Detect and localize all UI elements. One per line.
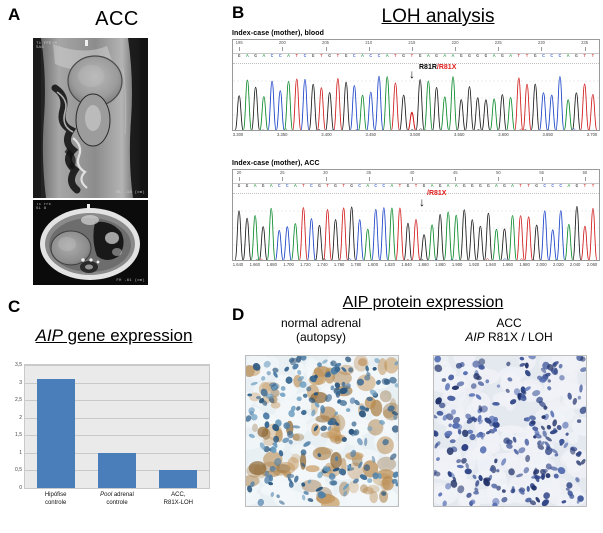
base-letter: T <box>517 55 520 60</box>
scale-tick <box>282 177 283 181</box>
base-letter: G <box>485 55 488 60</box>
axis-tick-label: 1.820 <box>384 262 394 267</box>
base-letter: T <box>591 55 594 60</box>
scale-number: 230 <box>538 40 545 45</box>
base-letter: G <box>476 55 479 60</box>
x-axis-label-line: Pool adrenal <box>100 492 134 500</box>
base-letter: A <box>366 185 369 190</box>
base-letter: G <box>435 55 438 60</box>
panel-c-letter: C <box>8 298 20 315</box>
axis-tick-label: 3.400 <box>321 132 331 137</box>
base-letter: G <box>463 185 466 190</box>
base-letter: G <box>318 185 321 190</box>
panel-d-title: AIP protein expression <box>268 294 578 312</box>
axis-tick-label: 1.880 <box>435 262 445 267</box>
x-axis-label-line: Hipófise <box>45 492 67 500</box>
base-letter: C <box>551 185 554 190</box>
base-letter: G <box>439 185 442 190</box>
y-axis-label: 0 <box>19 485 22 491</box>
axis-tick-label: 1.940 <box>486 262 496 267</box>
chromatogram-acc-peaks <box>233 194 599 261</box>
scale-tick <box>412 47 413 51</box>
base-letter: C <box>378 55 381 60</box>
scale-number: 30 <box>323 170 328 175</box>
base-letter: G <box>407 185 410 190</box>
base-letter: T <box>342 185 345 190</box>
scale-number: 225 <box>495 40 502 45</box>
axis-tick-label: 1.660 <box>250 262 260 267</box>
base-letter: A <box>361 55 364 60</box>
axis-tick-label: 3.650 <box>543 132 553 137</box>
chromatogram-blood-scale: 195200205210215220225230235 <box>233 40 599 54</box>
axis-tick-label: 1.980 <box>519 262 529 267</box>
base-letter: G <box>419 55 422 60</box>
panel-c: C AIP gene expression 00,511,522,533,5Hi… <box>0 292 228 533</box>
base-letter: C <box>559 55 562 60</box>
base-letter: A <box>254 185 257 190</box>
base-letter: T <box>394 55 397 60</box>
base-letter: C <box>358 185 361 190</box>
scale-tick <box>455 47 456 51</box>
base-letter: A <box>509 55 512 60</box>
base-letter: T <box>592 185 595 190</box>
panel-c-title-rest: gene expression <box>63 326 192 345</box>
scale-number: 55 <box>539 170 544 175</box>
base-letter: T <box>519 185 522 190</box>
chromatogram-blood-bases: GAGACCATCGTGTGCACCATGTGAGAAGGGGAGATTGCCC… <box>233 54 599 64</box>
mutation-label-blood-mutant: /R81X <box>437 64 456 71</box>
scale-number: 35 <box>366 170 371 175</box>
scale-tick <box>585 47 586 51</box>
y-axis-label: 1 <box>19 450 22 456</box>
base-letter: G <box>423 185 426 190</box>
base-letter: G <box>350 185 353 190</box>
chart-gridline <box>25 488 209 489</box>
scale-number: 25 <box>280 170 285 175</box>
scale-number: 20 <box>237 170 242 175</box>
histology-right-caption-rest: R81X / LOH <box>485 330 553 344</box>
chromatogram-blood: Index-case (mother), blood 1952002052102… <box>232 30 600 142</box>
mutation-arrow-acc: ↓ <box>419 196 425 208</box>
panel-b-letter: B <box>232 4 244 21</box>
base-letter: A <box>452 55 455 60</box>
base-letter: G <box>534 55 537 60</box>
base-letter: A <box>567 55 570 60</box>
axis-tick-label: 1.760 <box>334 262 344 267</box>
y-axis-label: 3,5 <box>15 362 22 368</box>
scale-number: 200 <box>279 40 286 45</box>
panel-c-title-gene: AIP <box>36 326 63 345</box>
base-letter: T <box>527 185 530 190</box>
scale-tick <box>239 177 240 181</box>
axis-tick-label: 1.680 <box>266 262 276 267</box>
axis-tick-label: 2.060 <box>587 262 597 267</box>
scale-tick <box>369 177 370 181</box>
mri-axial-overlay-top: T1 FFE SL 8 <box>36 203 52 211</box>
base-letter: A <box>443 55 446 60</box>
scale-tick <box>541 47 542 51</box>
scale-number: 220 <box>452 40 459 45</box>
axis-tick-label: 3.300 <box>233 132 243 137</box>
scale-tick <box>585 177 586 181</box>
mri-sagittal-image: T1 FFE/M SAG RL -18 (cm) <box>33 38 148 198</box>
scale-number: 205 <box>322 40 329 45</box>
x-axis-label-italic: Pool <box>100 492 112 498</box>
axis-tick-label: 3.700 <box>587 132 597 137</box>
base-letter: G <box>246 185 249 190</box>
base-letter: T <box>302 185 305 190</box>
base-letter: C <box>369 55 372 60</box>
base-letter: A <box>495 185 498 190</box>
mri-axial-overlay-bottom: FH -61 (cm) <box>116 279 145 283</box>
base-letter: G <box>471 185 474 190</box>
base-letter: C <box>382 185 385 190</box>
base-letter: T <box>410 55 413 60</box>
scale-number: 215 <box>408 40 415 45</box>
base-letter: C <box>310 185 313 190</box>
base-letter: G <box>238 185 241 190</box>
chromatogram-blood-axis: 3.3003.3503.4003.4503.5003.5503.6003.650… <box>232 132 600 142</box>
scale-tick <box>326 177 327 181</box>
scale-tick <box>542 177 543 181</box>
chart-gridline <box>25 365 209 366</box>
base-letter: A <box>493 55 496 60</box>
base-letter: T <box>295 55 298 60</box>
histology-right-caption-gene: AIP <box>465 330 484 344</box>
scale-tick <box>412 177 413 181</box>
x-axis-label-line: R81X-LOH <box>164 500 193 508</box>
histology-normal-adrenal-image <box>245 355 399 507</box>
histology-right-caption-line2: AIP R81X / LOH <box>433 330 585 344</box>
x-axis-label-line: controle <box>45 500 67 508</box>
base-letter: G <box>460 55 463 60</box>
scale-number: 195 <box>236 40 243 45</box>
scale-tick <box>326 47 327 51</box>
base-letter: T <box>320 55 323 60</box>
base-letter: T <box>399 185 402 190</box>
scale-tick <box>369 47 370 51</box>
base-letter: C <box>271 55 274 60</box>
histology-right-caption-line1: ACC <box>433 316 585 330</box>
scale-number: 60 <box>583 170 588 175</box>
axis-tick-label: 1.840 <box>401 262 411 267</box>
panel-a: A ACC <box>0 0 228 292</box>
axis-tick-label: 3.600 <box>498 132 508 137</box>
base-letter: G <box>328 55 331 60</box>
scale-tick <box>498 177 499 181</box>
base-letter: C <box>286 185 289 190</box>
axis-tick-label: 1.740 <box>317 262 327 267</box>
chart-bar <box>37 379 75 488</box>
mutation-label-acc: /R81X <box>427 190 446 197</box>
base-letter: G <box>238 55 241 60</box>
axis-tick-label: 1.860 <box>418 262 428 267</box>
base-letter: G <box>254 55 257 60</box>
chromatogram-blood-caption: Index-case (mother), blood <box>232 30 600 37</box>
axis-tick-label: 1.920 <box>469 262 479 267</box>
axis-tick-label: 3.350 <box>277 132 287 137</box>
base-letter: A <box>270 185 273 190</box>
chromatogram-acc-caption: Index-case (mother), ACC <box>232 160 600 167</box>
panel-a-title: ACC <box>52 8 182 31</box>
base-letter: A <box>431 185 434 190</box>
axis-tick-label: 1.640 <box>233 262 243 267</box>
base-letter: C <box>278 185 281 190</box>
mri-sagittal-overlay-bottom: RL -18 (cm) <box>116 191 145 195</box>
axis-tick-label: 2.040 <box>570 262 580 267</box>
base-letter: T <box>336 55 339 60</box>
base-letter: G <box>503 185 506 190</box>
base-letter: T <box>583 55 586 60</box>
panel-b: B LOH analysis Index-case (mother), bloo… <box>228 0 603 292</box>
base-letter: C <box>542 55 545 60</box>
chromatogram-acc-axis: 1.6401.6601.6801.7001.7201.7401.7601.780… <box>232 262 600 272</box>
base-letter: A <box>386 55 389 60</box>
mutation-label-acc-mutant: /R81X <box>427 190 446 197</box>
scale-tick <box>498 47 499 51</box>
base-letter: G <box>487 185 490 190</box>
histology-left-caption: normal adrenal (autopsy) <box>245 316 397 344</box>
chromatogram-acc-bases: GGAGACCATCGTGTGCACCATGTGAGAAGGGGAGATTGCC… <box>233 184 599 194</box>
panel-b-title: LOH analysis <box>288 6 588 28</box>
base-letter: C <box>543 185 546 190</box>
base-letter: C <box>374 185 377 190</box>
aip-expression-bar-chart: 00,511,522,533,5HipófisecontrolePool adr… <box>24 364 210 489</box>
base-letter: G <box>575 185 578 190</box>
base-letter: G <box>402 55 405 60</box>
base-letter: C <box>279 55 282 60</box>
histology-acc-image <box>433 355 587 507</box>
histology-right-caption: ACC AIP R81X / LOH <box>433 316 585 344</box>
scale-number: 235 <box>581 40 588 45</box>
scale-number: 40 <box>410 170 415 175</box>
y-axis-label: 1,5 <box>15 432 22 438</box>
y-axis-label: 3 <box>19 380 22 386</box>
base-letter: G <box>501 55 504 60</box>
mri-sagittal-overlay-top: T1 FFE/M SAG <box>36 42 57 50</box>
base-letter: C <box>353 55 356 60</box>
base-letter: T <box>526 55 529 60</box>
x-axis-label: Hipófisecontrole <box>45 492 67 507</box>
base-letter: G <box>575 55 578 60</box>
chromatogram-acc-scale: 202530354045505560 <box>233 170 599 184</box>
base-letter: A <box>294 185 297 190</box>
panel-a-letter: A <box>8 6 20 23</box>
base-letter: C <box>550 55 553 60</box>
histology-left-caption-line2: (autopsy) <box>245 330 397 344</box>
axis-tick-label: 2.000 <box>536 262 546 267</box>
axis-tick-label: 3.450 <box>366 132 376 137</box>
scale-tick <box>455 177 456 181</box>
x-axis-label: Pool adrenalcontrole <box>100 492 134 507</box>
axis-tick-label: 3.550 <box>454 132 464 137</box>
base-letter: A <box>390 185 393 190</box>
axis-tick-label: 1.780 <box>351 262 361 267</box>
scale-number: 45 <box>453 170 458 175</box>
base-letter: G <box>468 55 471 60</box>
base-letter: G <box>479 185 482 190</box>
axis-tick-label: 2.020 <box>553 262 563 267</box>
axis-tick-label: 1.800 <box>368 262 378 267</box>
base-letter: T <box>326 185 329 190</box>
scale-number: 50 <box>496 170 501 175</box>
scale-number: 210 <box>365 40 372 45</box>
scale-tick <box>282 47 283 51</box>
base-letter: A <box>246 55 249 60</box>
panel-d-letter: D <box>232 306 244 323</box>
base-letter: T <box>415 185 418 190</box>
base-letter: A <box>567 185 570 190</box>
mutation-label-blood: R81R/R81X <box>419 64 456 71</box>
base-letter: C <box>304 55 307 60</box>
chromatogram-blood-peaks <box>233 64 599 131</box>
base-letter: A <box>455 185 458 190</box>
panel-c-title: AIP gene expression <box>8 326 220 346</box>
histology-left-caption-line1: normal adrenal <box>245 316 397 330</box>
y-axis-label: 2 <box>19 415 22 421</box>
mutation-label-blood-normal: R81R <box>419 64 437 71</box>
axis-tick-label: 1.720 <box>300 262 310 267</box>
base-letter: G <box>535 185 538 190</box>
base-letter: C <box>559 185 562 190</box>
base-letter: T <box>584 185 587 190</box>
axis-tick-label: 3.500 <box>410 132 420 137</box>
chromatogram-acc: Index-case (mother), ACC 202530354045505… <box>232 160 600 272</box>
y-axis-label: 2,5 <box>15 397 22 403</box>
base-letter: A <box>511 185 514 190</box>
mutation-arrow-blood: ↓ <box>409 68 415 80</box>
base-letter: G <box>262 185 265 190</box>
scale-tick <box>239 47 240 51</box>
base-letter: A <box>262 55 265 60</box>
y-axis-label: 0,5 <box>15 467 22 473</box>
axis-tick-label: 1.700 <box>283 262 293 267</box>
x-axis-label: ACC,R81X-LOH <box>164 492 193 507</box>
chart-bar <box>98 453 136 488</box>
x-axis-label-line: controle <box>100 500 134 508</box>
base-letter: A <box>427 55 430 60</box>
base-letter: G <box>334 185 337 190</box>
axis-tick-label: 1.900 <box>452 262 462 267</box>
axis-tick-label: 1.960 <box>502 262 512 267</box>
mri-axial-image: T1 FFE SL 8 FH -61 (cm) <box>33 200 148 285</box>
panel-d: D AIP protein expression normal adrenal … <box>228 292 603 533</box>
base-letter: A <box>447 185 450 190</box>
base-letter: G <box>345 55 348 60</box>
chart-bar <box>159 470 197 488</box>
base-letter: A <box>287 55 290 60</box>
base-letter: G <box>312 55 315 60</box>
x-axis-label-line: ACC, <box>164 492 193 500</box>
